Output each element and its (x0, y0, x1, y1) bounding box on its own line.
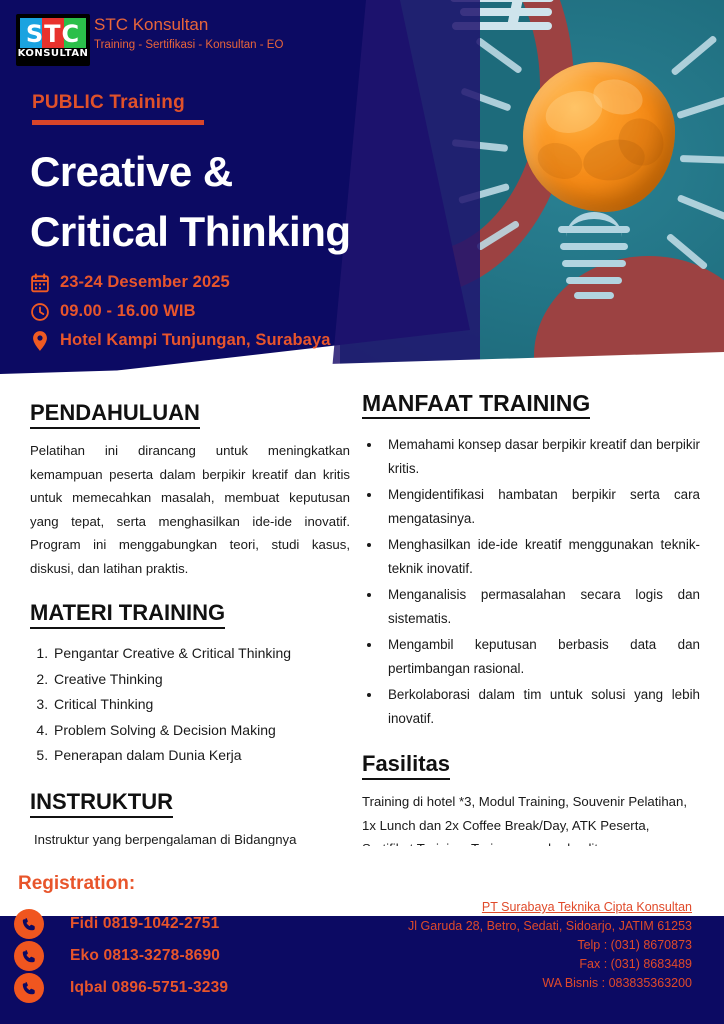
heading-instruktur: INSTRUKTUR (30, 789, 173, 818)
meta-row-time: 09.00 - 16.00 WIB (30, 297, 450, 326)
list-item: Berkolaborasi dalam tim untuk solusi yan… (382, 683, 700, 731)
footer: Registration: Fidi 0819-1042-2751 Eko 08… (0, 846, 724, 1024)
heading-fasilitas: Fasilitas (362, 751, 450, 780)
list-item: Menghasilkan ide-ide kreatif menggunakan… (382, 533, 700, 581)
meta-row-date: 23-24 Desember 2025 (30, 268, 450, 297)
heading-materi-training: MATERI TRAINING (30, 600, 225, 629)
event-date: 23-24 Desember 2025 (60, 273, 230, 292)
contact-list: Fidi 0819-1042-2751 Eko 0813-3278-8690 I… (14, 908, 344, 1004)
calendar-icon (30, 271, 60, 295)
list-item: Mengidentifikasi hambatan berpikir serta… (382, 483, 700, 531)
poster: ? (0, 0, 724, 1024)
heading-manfaat-training: MANFAAT TRAINING (362, 390, 590, 419)
list-item: Pengantar Creative & Critical Thinking (52, 641, 350, 667)
list-item: Creative Thinking (52, 667, 350, 693)
page-title: Creative & Critical Thinking (30, 142, 430, 262)
company-address: Jl Garuda 28, Betro, Sedati, Sidoarjo, J… (332, 917, 692, 936)
brand-block: STC Konsultan Training - Sertifikasi - K… (94, 14, 283, 54)
contact-row[interactable]: Fidi 0819-1042-2751 (14, 908, 344, 940)
list-item: Menganalisis permasalahan secara logis d… (382, 583, 700, 631)
phone-icon (14, 909, 44, 939)
event-venue: Hotel Kampi Tunjungan, Surabaya (60, 331, 331, 350)
brand-tagline: Training - Sertifikasi - Konsultan - EO (94, 36, 283, 54)
heading-pendahuluan: PENDAHULUAN (30, 400, 200, 429)
materi-list: Pengantar Creative & Critical Thinking C… (30, 641, 350, 769)
left-column: PENDAHULUAN Pelatihan ini dirancang untu… (30, 400, 350, 851)
meta-row-venue: Hotel Kampi Tunjungan, Surabaya (30, 326, 450, 355)
list-item: Critical Thinking (52, 692, 350, 718)
list-item: Mengambil keputusan berbasis data dan pe… (382, 633, 700, 681)
crumpled-paper-ball (523, 62, 675, 212)
logo-initials: STC (20, 20, 86, 48)
company-telp: Telp : (031) 8670873 (332, 936, 692, 955)
kicker-underline (32, 120, 204, 125)
brand-name: STC Konsultan (94, 14, 283, 36)
location-pin-icon (30, 329, 60, 353)
right-column: MANFAAT TRAINING Memahami konsep dasar b… (362, 390, 700, 861)
kicker-public-training: PUBLIC Training (32, 92, 185, 114)
contact-text: Iqbal 0896-5751-3239 (70, 979, 228, 997)
contact-text: Fidi 0819-1042-2751 (70, 915, 219, 933)
registration-label: Registration: (18, 873, 135, 895)
list-item: Problem Solving & Decision Making (52, 718, 350, 744)
header-banner: ? (0, 0, 724, 390)
company-whatsapp: WA Bisnis : 083835363200 (332, 974, 692, 993)
manfaat-list: Memahami konsep dasar berpikir kreatif d… (362, 433, 700, 731)
chalk-bulb-base-icon (558, 226, 630, 304)
title-line-1: Creative & (30, 142, 430, 202)
contact-text: Eko 0813-3278-8690 (70, 947, 220, 965)
content-area: PENDAHULUAN Pelatihan ini dirancang untu… (0, 386, 724, 866)
list-item: Penerapan dalam Dunia Kerja (52, 743, 350, 769)
event-meta: 23-24 Desember 2025 09.00 - 16.00 WIB Ho… (30, 268, 450, 355)
logo-wordmark: KONSULTAN (16, 48, 90, 59)
clock-icon (30, 300, 60, 324)
contact-row[interactable]: Iqbal 0896-5751-3239 (14, 972, 344, 1004)
pendahuluan-body: Pelatihan ini dirancang untuk meningkatk… (30, 439, 350, 580)
list-item: Memahami konsep dasar berpikir kreatif d… (382, 433, 700, 481)
phone-icon (14, 973, 44, 1003)
company-fax: Fax : (031) 8683489 (332, 955, 692, 974)
logo: STC KONSULTAN (16, 14, 90, 66)
event-time: 09.00 - 16.00 WIB (60, 302, 196, 321)
phone-icon (14, 941, 44, 971)
company-name: PT Surabaya Teknika Cipta Konsultan (332, 898, 692, 917)
company-info: PT Surabaya Teknika Cipta Konsultan Jl G… (332, 898, 692, 993)
title-line-2: Critical Thinking (30, 202, 430, 262)
contact-row[interactable]: Eko 0813-3278-8690 (14, 940, 344, 972)
